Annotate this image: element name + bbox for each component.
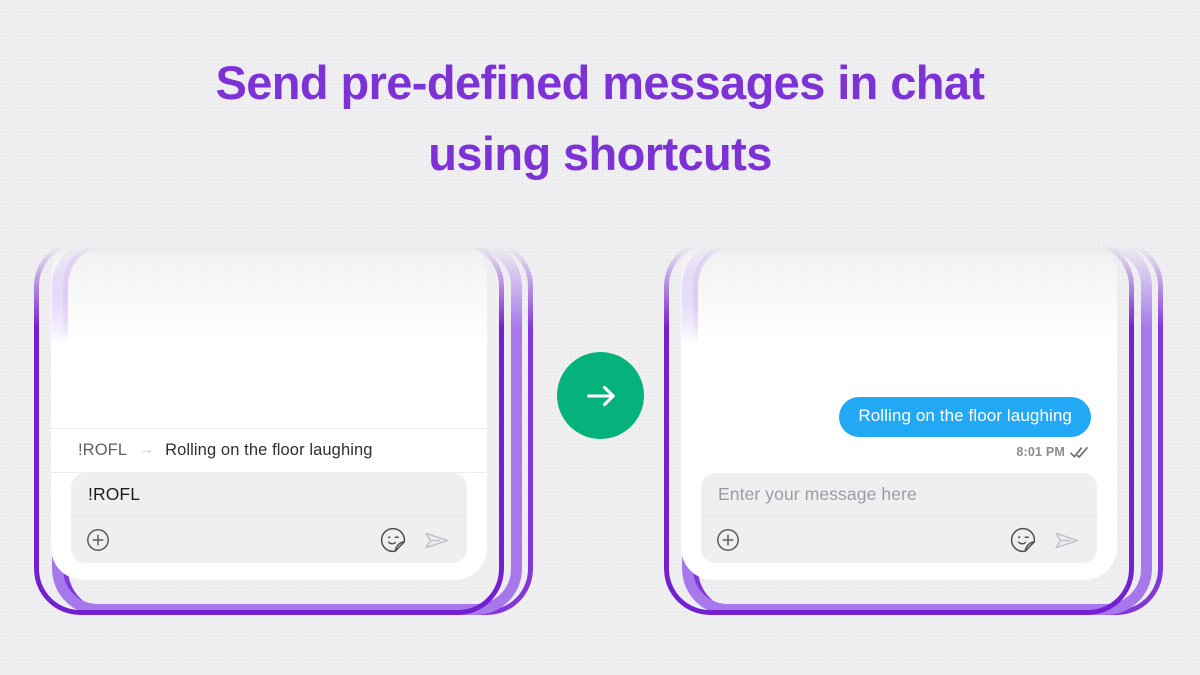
send-paper-plane-icon xyxy=(421,525,452,556)
double-check-icon xyxy=(1070,446,1089,459)
page-title-line-2: using shortcuts xyxy=(0,118,1200,189)
page-title: Send pre-defined messages in chat using … xyxy=(0,47,1200,190)
promo-graphic: Send pre-defined messages in chat using … xyxy=(0,0,1200,675)
after-phone-mockup: Rolling on the floor laughing 8:01 PM En… xyxy=(664,240,1169,625)
before-phone-screen: !ROFL → Rolling on the floor laughing !R… xyxy=(51,240,487,580)
attach-button[interactable] xyxy=(716,528,740,552)
message-timestamp: 8:01 PM xyxy=(1016,445,1065,459)
arrow-right-icon: → xyxy=(138,442,154,458)
send-paper-plane-icon xyxy=(1051,525,1082,556)
outgoing-message-bubble[interactable]: Rolling on the floor laughing xyxy=(839,397,1091,437)
send-button[interactable] xyxy=(1051,525,1082,556)
message-input[interactable]: Enter your message here xyxy=(701,473,1097,517)
arrow-right-icon xyxy=(579,374,623,418)
message-meta: 8:01 PM xyxy=(1016,445,1089,459)
sticker-button[interactable] xyxy=(1009,526,1037,554)
sticker-wink-icon xyxy=(379,526,407,554)
after-composer: Enter your message here xyxy=(701,473,1097,563)
after-phone-screen: Rolling on the floor laughing 8:01 PM En… xyxy=(681,240,1117,580)
sticker-wink-icon xyxy=(1009,526,1037,554)
message-row: Rolling on the floor laughing 8:01 PM xyxy=(839,397,1091,459)
before-composer-actions xyxy=(71,517,467,563)
sticker-button[interactable] xyxy=(379,526,407,554)
shortcut-code-label: !ROFL xyxy=(78,441,127,460)
before-phone-mockup: !ROFL → Rolling on the floor laughing !R… xyxy=(34,240,539,625)
before-composer: !ROFL xyxy=(71,473,467,563)
shortcut-expansion-label: Rolling on the floor laughing xyxy=(165,441,372,460)
shortcut-suggestion-row[interactable]: !ROFL → Rolling on the floor laughing xyxy=(51,428,487,473)
plus-circle-icon xyxy=(716,528,740,552)
after-chat-history[interactable]: Rolling on the floor laughing 8:01 PM xyxy=(681,240,1117,473)
attach-button[interactable] xyxy=(86,528,110,552)
transition-arrow-badge xyxy=(557,352,644,439)
send-button[interactable] xyxy=(421,525,452,556)
plus-circle-icon xyxy=(86,528,110,552)
after-composer-actions xyxy=(701,517,1097,563)
before-chat-history[interactable] xyxy=(51,240,487,428)
message-input[interactable]: !ROFL xyxy=(71,473,467,517)
page-title-line-1: Send pre-defined messages in chat xyxy=(216,56,985,109)
